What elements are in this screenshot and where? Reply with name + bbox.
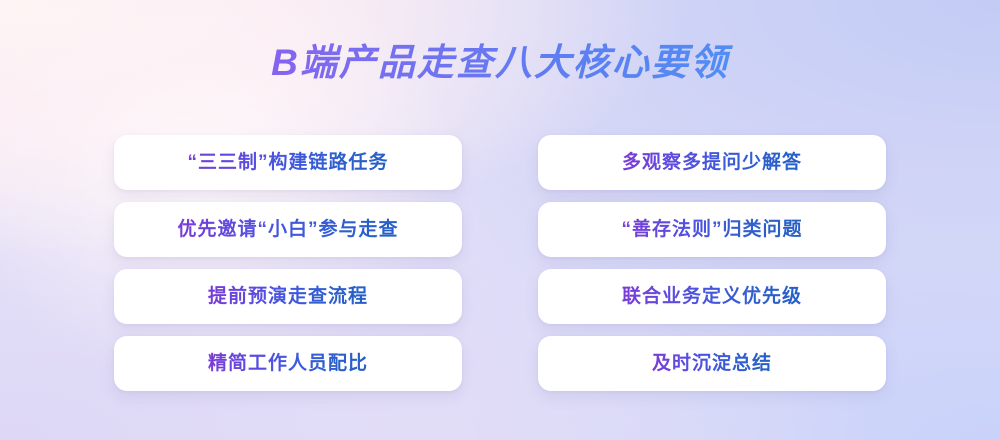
key-point-label: 优先邀请“小白”参与走查 [177,216,398,244]
key-points-grid: “三三制”构建链路任务 多观察多提问少解答 优先邀请“小白”参与走查 “善存法则… [114,135,886,391]
key-point-label: “三三制”构建链路任务 [187,149,388,177]
key-point-card[interactable]: 多观察多提问少解答 [538,135,886,190]
key-point-card[interactable]: 及时沉淀总结 [538,336,886,391]
key-point-card[interactable]: 提前预演走查流程 [114,269,462,324]
key-point-label: 提前预演走查流程 [208,283,368,311]
page-title: B端产品走查八大核心要领 [0,40,1000,86]
key-point-card[interactable]: “善存法则”归类问题 [538,202,886,257]
key-point-card[interactable]: “三三制”构建链路任务 [114,135,462,190]
key-point-card[interactable]: 优先邀请“小白”参与走查 [114,202,462,257]
key-point-card[interactable]: 精简工作人员配比 [114,336,462,391]
key-point-label: 精简工作人员配比 [208,350,368,378]
key-point-label: 联合业务定义优先级 [622,283,802,311]
poster-canvas: B端产品走查八大核心要领 “三三制”构建链路任务 多观察多提问少解答 优先邀请“… [0,0,1000,440]
key-point-card[interactable]: 联合业务定义优先级 [538,269,886,324]
key-point-label: 多观察多提问少解答 [622,149,802,177]
key-point-label: “善存法则”归类问题 [621,216,802,244]
key-point-label: 及时沉淀总结 [652,350,772,378]
